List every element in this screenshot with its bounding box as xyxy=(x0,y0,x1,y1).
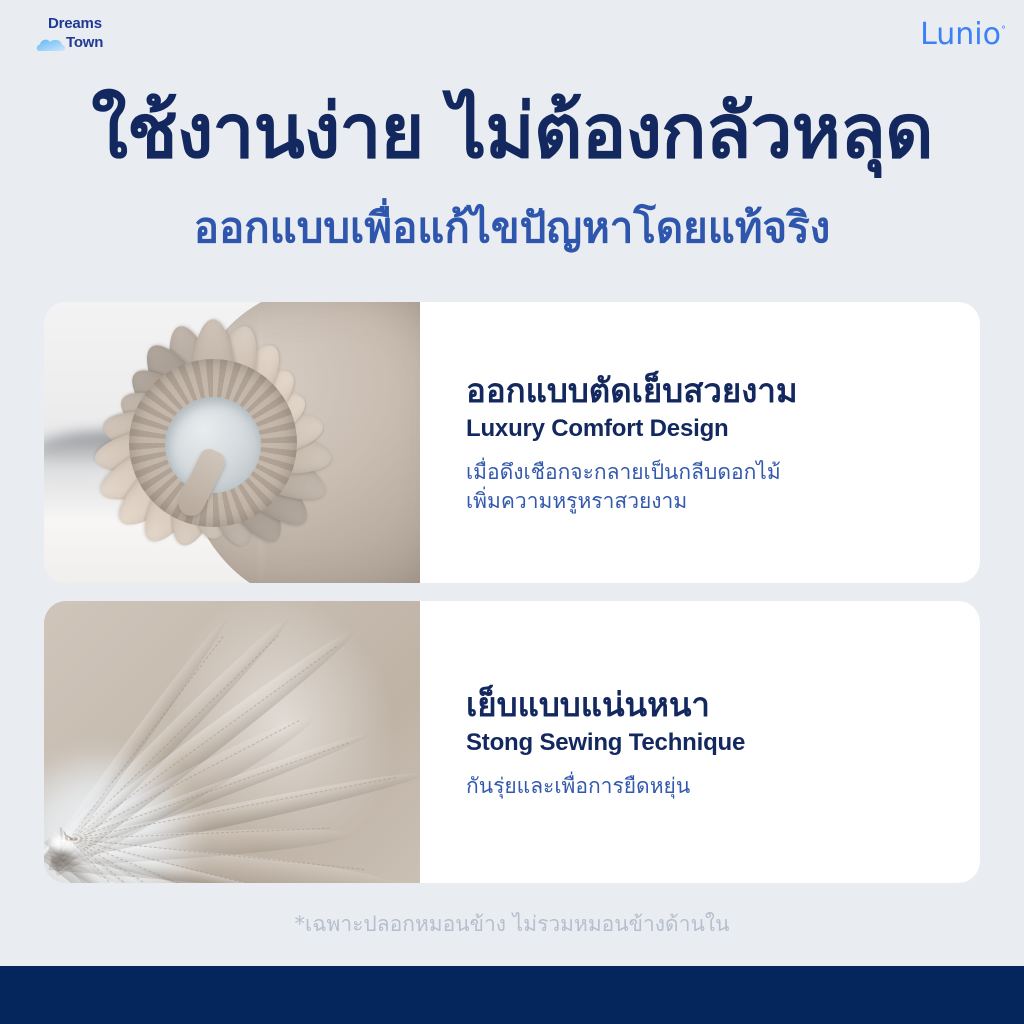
dreams-town-line1: Dreams xyxy=(48,16,102,31)
page-subheadline: ออกแบบเพื่อแก้ไขปัญหาโดยแท้จริง xyxy=(0,203,1024,253)
feature-description-line1: เมื่อดึงเชือกจะกลายเป็นกลีบดอกไม้ xyxy=(466,458,980,486)
footnote: *เฉพาะปลอกหมอนข้าง ไม่รวมหมอนข้างด้านใน xyxy=(0,908,1024,941)
feature-card: เย็บแบบแน่นหนา Stong Sewing Technique กั… xyxy=(44,601,980,883)
feature-title-th: เย็บแบบแน่นหนา xyxy=(466,684,980,725)
feature-description-line2: เพิ่มความหรูหราสวยงาม xyxy=(466,487,980,515)
feature-description-line1: กันรุ่ยและเพื่อการยืดหยุ่น xyxy=(466,772,980,800)
feature-text-block: ออกแบบตัดเย็บสวยงาม Luxury Comfort Desig… xyxy=(420,302,980,583)
feature-title-en: Luxury Comfort Design xyxy=(466,413,980,444)
page-headline: ใช้งานง่าย ไม่ต้องกลัวหลุด xyxy=(0,88,1024,174)
lunio-logo[interactable]: Lunio° xyxy=(920,20,1006,50)
dreams-town-logo[interactable]: Dreams Town xyxy=(18,16,158,68)
feature-text-block: เย็บแบบแน่นหนา Stong Sewing Technique กั… xyxy=(420,601,980,883)
lunio-wordmark: Lunio xyxy=(920,17,1001,52)
brand-bar: Dreams Town Lunio° xyxy=(0,0,1024,88)
cloud-pillow-icon xyxy=(36,37,66,52)
feature-description: เมื่อดึงเชือกจะกลายเป็นกลีบดอกไม้ เพิ่มค… xyxy=(466,458,980,515)
feature-title-en: Stong Sewing Technique xyxy=(466,727,980,758)
lunio-trademark-icon: ° xyxy=(1001,25,1006,36)
pleated-stitching-closeup-photo xyxy=(44,601,420,883)
feature-card: ออกแบบตัดเย็บสวยงาม Luxury Comfort Desig… xyxy=(44,302,980,583)
bolster-pillow-ruffled-end-photo xyxy=(44,302,420,583)
ruffle-rosette xyxy=(100,324,326,562)
bottom-bar xyxy=(0,966,1024,1024)
feature-description: กันรุ่ยและเพื่อการยืดหยุ่น xyxy=(466,772,980,800)
feature-title-th: ออกแบบตัดเย็บสวยงาม xyxy=(466,370,980,411)
dreams-town-line2: Town xyxy=(66,35,103,50)
